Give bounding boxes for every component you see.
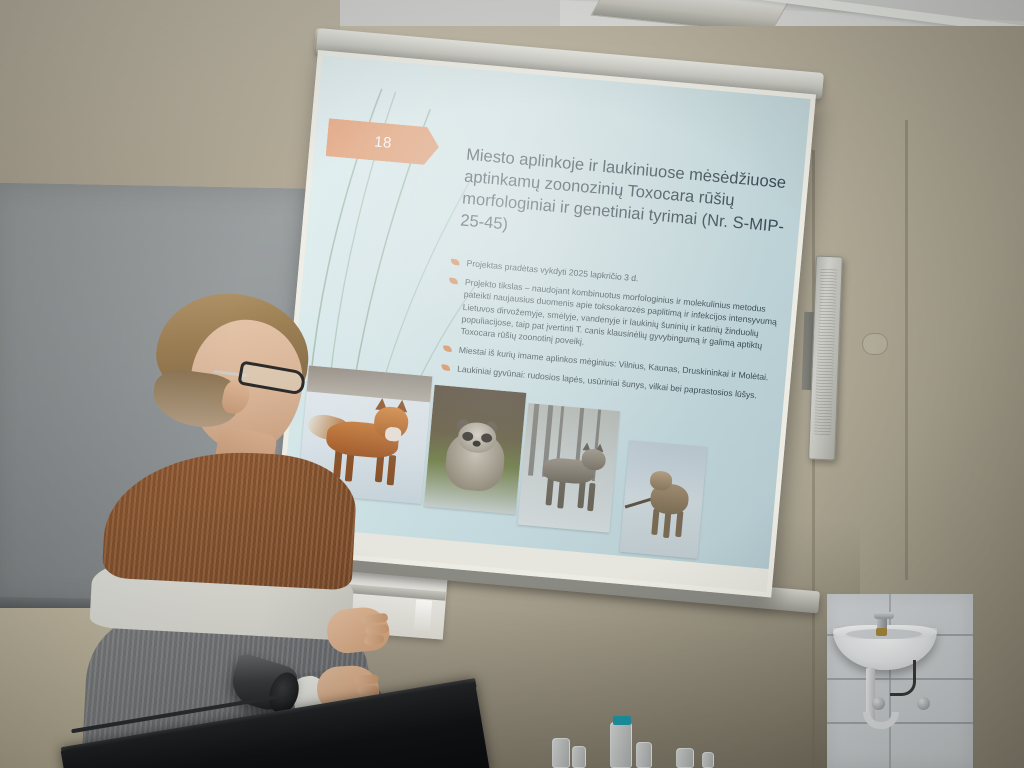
slide-title: Miesto aplinkoje ir laukiniuose mėsėdžiu…: [459, 145, 795, 262]
speaker-grille: [814, 267, 837, 436]
hand: [325, 605, 391, 655]
wolf-photo: [518, 403, 620, 533]
raccoon-dog-photo: [424, 385, 526, 515]
water-bottle[interactable]: [610, 722, 632, 768]
water-bottle[interactable]: [702, 752, 714, 768]
lynx-photo: [620, 440, 708, 558]
water-valve[interactable]: [872, 697, 885, 710]
water-bottle[interactable]: [636, 742, 652, 768]
classroom-scene: 18 Miesto aplinkoje ir laukiniuose mėsėd…: [0, 0, 1024, 768]
left-wall-top: [0, 0, 340, 200]
wall-plate: [862, 333, 888, 355]
sweater-top-stripe: [102, 446, 359, 591]
bottle-cap: [613, 716, 631, 725]
slide-number: 18: [374, 133, 393, 152]
faucet-aerator: [876, 628, 887, 636]
water-bottle[interactable]: [552, 738, 570, 768]
drain-hose: [890, 660, 916, 696]
faucet-handle[interactable]: [874, 612, 894, 619]
water-bottle[interactable]: [676, 748, 694, 768]
water-valve[interactable]: [917, 697, 930, 710]
wall-seam: [905, 120, 908, 580]
water-bottle[interactable]: [572, 746, 586, 768]
paper-sheet: [414, 599, 432, 630]
